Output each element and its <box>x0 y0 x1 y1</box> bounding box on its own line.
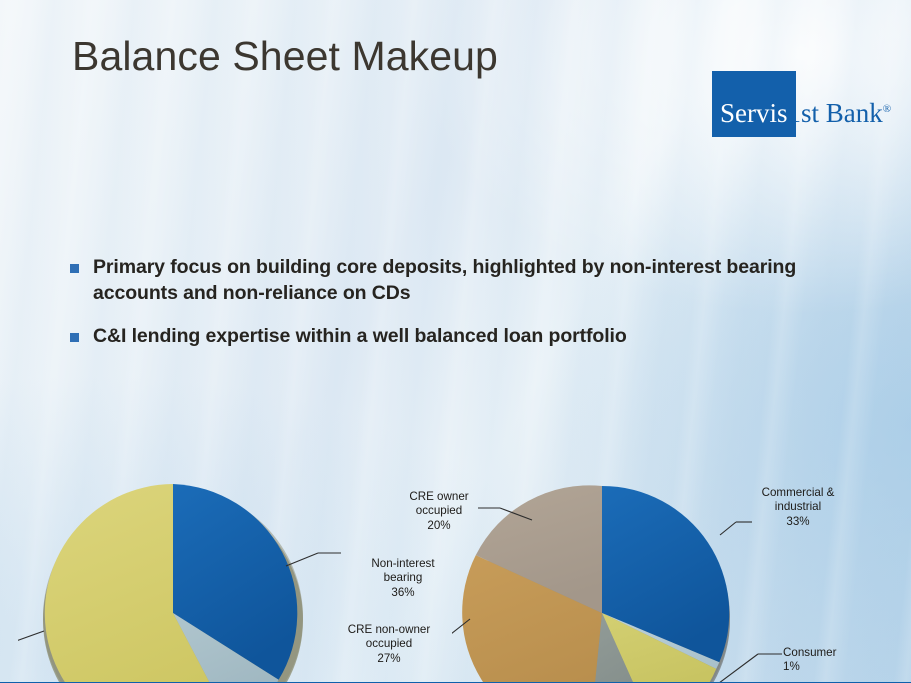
bullet-text: C&I lending expertise within a well bala… <box>93 324 627 350</box>
logo-wordmark: Servis1st Bank® <box>720 100 891 127</box>
label-now-money-market-savings: NOW, Money market, and savings 57% <box>0 630 18 683</box>
label-cre-non-owner-occupied: CRE non-owner occupied 27% <box>347 623 431 667</box>
logo-1stbank-text: 1st Bank <box>788 98 883 128</box>
servisfirst-bank-logo: Servis1st Bank® <box>712 71 884 137</box>
bullet-list: Primary focus on building core deposits,… <box>70 255 860 350</box>
label-consumer: Consumer 1% <box>783 646 853 675</box>
slide-root: Balance Sheet Makeup Servis1st Bank® Pri… <box>0 0 911 683</box>
bullet-text: Primary focus on building core deposits,… <box>93 255 860 307</box>
charts-container: Non-interest bearing 36% NOW, Money mark… <box>0 475 911 683</box>
leader-line-non-interest <box>286 553 318 566</box>
leader-line-now-money <box>18 631 44 641</box>
label-non-interest-bearing: Non-interest bearing 36% <box>343 557 463 601</box>
bullet-square-icon <box>70 264 79 273</box>
bullet-item: C&I lending expertise within a well bala… <box>70 324 860 350</box>
bullet-square-icon <box>70 333 79 342</box>
leader-line-commercial <box>720 522 736 535</box>
label-commercial-industrial: Commercial & industrial 33% <box>752 486 844 530</box>
bullet-item: Primary focus on building core deposits,… <box>70 255 860 307</box>
loan-portfolio-pie-chart: CRE owner occupied 20% CRE non-owner occ… <box>452 475 911 683</box>
registered-trademark-icon: ® <box>883 103 891 115</box>
logo-servis-text: Servis <box>720 98 788 128</box>
label-cre-owner-occupied: CRE owner occupied 20% <box>397 490 481 534</box>
